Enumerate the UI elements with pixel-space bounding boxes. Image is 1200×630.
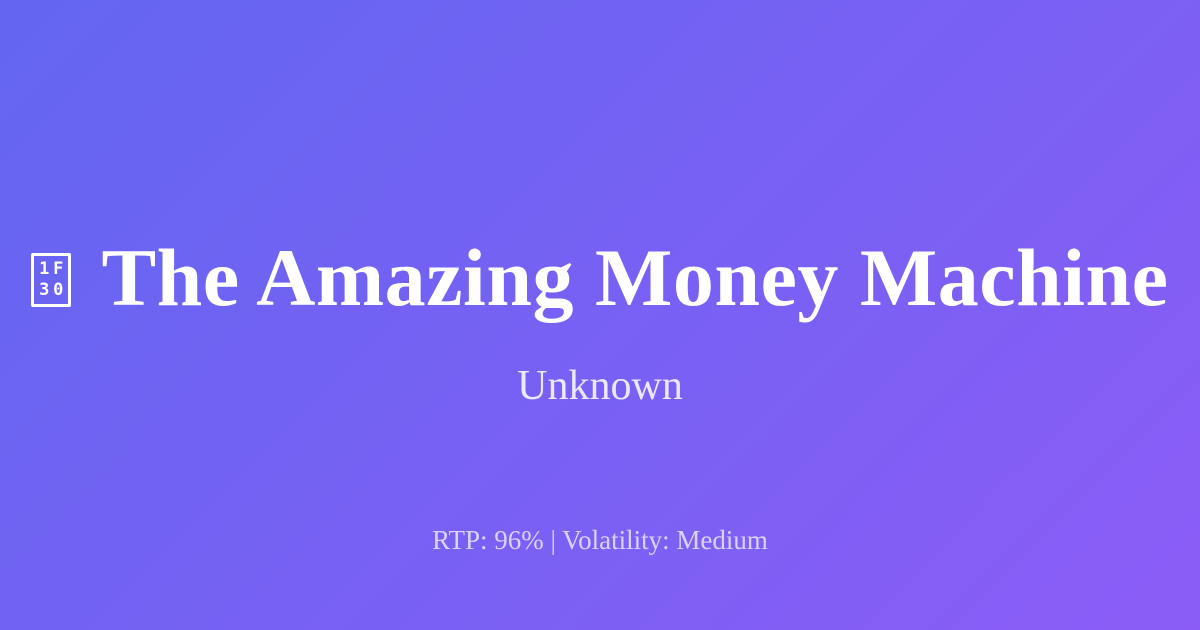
og-preview-card: 1 F 3 0 The Amazing Money Machine Unknow… [0, 0, 1200, 630]
title-row: 1 F 3 0 The Amazing Money Machine [0, 232, 1200, 324]
hex-digit-1: 1 [39, 261, 50, 278]
slot-machine-emoji-icon: 1 F 3 0 [31, 253, 71, 307]
hex-digit-3: 3 [39, 282, 50, 299]
game-meta-line: RTP: 96% | Volatility: Medium [0, 526, 1200, 556]
hex-digit-4: 0 [53, 282, 64, 299]
hex-digit-2: F [53, 261, 64, 278]
title-line: 1 F 3 0 The Amazing Money Machine [31, 237, 1168, 319]
missing-glyph-hex-grid: 1 F 3 0 [37, 259, 65, 301]
page-title: The Amazing Money Machine [101, 237, 1168, 319]
subtitle: Unknown [0, 363, 1200, 409]
